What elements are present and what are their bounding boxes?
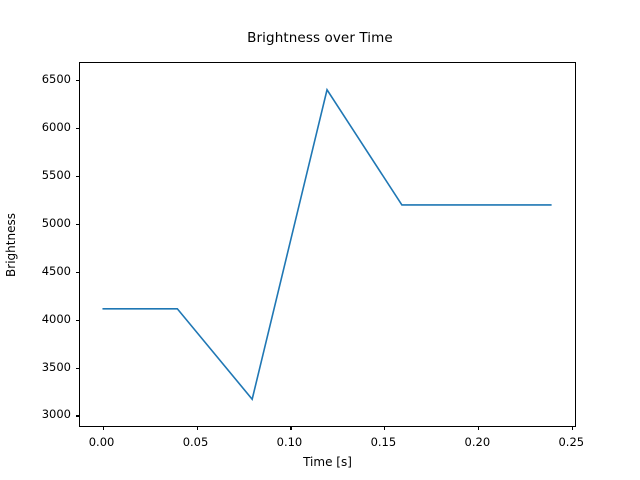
- plot-area: [79, 62, 576, 427]
- x-tick-label: 0.00: [89, 435, 115, 449]
- y-tick-label: 6000: [0, 120, 71, 134]
- y-tick-label: 3000: [0, 407, 71, 421]
- series-line-brightness: [102, 90, 551, 399]
- y-tick-label: 4000: [0, 312, 71, 326]
- y-tick-label: 3500: [0, 360, 71, 374]
- y-tick-mark: [76, 80, 80, 81]
- x-tick-label: 0.15: [371, 435, 397, 449]
- x-tick-mark: [572, 426, 573, 430]
- chart-figure: Brightness over Time Brightness Time [s]…: [0, 0, 640, 480]
- y-tick-mark: [76, 320, 80, 321]
- y-tick-mark: [76, 272, 80, 273]
- x-axis-label: Time [s]: [79, 455, 576, 469]
- x-tick-mark: [478, 426, 479, 430]
- y-tick-mark: [76, 176, 80, 177]
- y-tick-mark: [76, 415, 80, 416]
- x-tick-mark: [384, 426, 385, 430]
- y-tick-mark: [76, 224, 80, 225]
- chart-title: Brightness over Time: [0, 30, 640, 46]
- x-tick-mark: [290, 426, 291, 430]
- x-tick-label: 0.05: [183, 435, 209, 449]
- x-tick-label: 0.25: [558, 435, 584, 449]
- y-tick-label: 6500: [0, 72, 71, 86]
- y-tick-label: 5500: [0, 168, 71, 182]
- data-line-series: [80, 63, 575, 426]
- y-tick-mark: [76, 368, 80, 369]
- x-tick-label: 0.20: [465, 435, 491, 449]
- x-tick-mark: [103, 426, 104, 430]
- x-tick-mark: [197, 426, 198, 430]
- y-tick-label: 4500: [0, 264, 71, 278]
- x-tick-label: 0.10: [277, 435, 303, 449]
- y-tick-label: 5000: [0, 216, 71, 230]
- y-tick-mark: [76, 128, 80, 129]
